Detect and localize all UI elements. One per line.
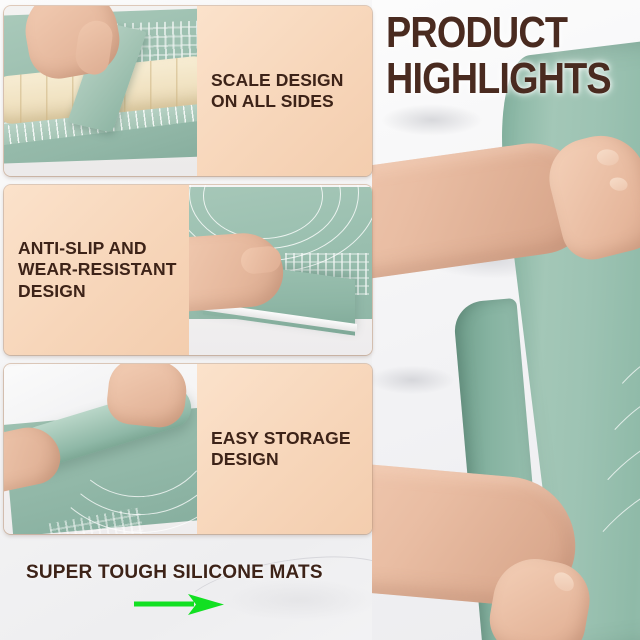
feature-2-line-1: ANTI-SLIP AND [18,238,177,259]
feature-photo-lifting-corner [189,185,372,355]
title-line-2: HIGHLIGHTS [386,58,603,100]
bottom-caption: SUPER TOUGH SILICONE MATS [26,562,323,584]
feature-photo-rolled-mat [4,364,197,534]
feature-3-line-2: DESIGN [211,449,351,470]
feature-1-line-2: ON ALL SIDES [211,91,343,112]
feature-card-scale-design: SCALE DESIGN ON ALL SIDES [4,6,372,176]
feature-2-line-2: WEAR-RESISTANT [18,259,177,280]
title-line-1: PRODUCT [386,12,603,54]
right-arrow-icon [132,592,228,618]
feature-card-anti-slip: ANTI-SLIP AND WEAR-RESISTANT DESIGN [4,185,372,355]
feature-1-line-1: SCALE DESIGN [211,70,343,91]
page-title: PRODUCT HIGHLIGHTS [386,12,638,100]
feature-text-anti-slip: ANTI-SLIP AND WEAR-RESISTANT DESIGN [4,185,189,355]
feature-grid: SCALE DESIGN ON ALL SIDES ANTI-SLIP AND [4,6,372,534]
feature-3-line-1: EASY STORAGE [211,428,351,449]
feature-photo-dough-cutting [4,6,197,176]
feature-card-easy-storage: EASY STORAGE DESIGN [4,364,372,534]
feature-text-easy-storage: EASY STORAGE DESIGN [197,364,372,534]
feature-text-scale-design: SCALE DESIGN ON ALL SIDES [197,6,372,176]
feature-2-line-3: DESIGN [18,281,177,302]
